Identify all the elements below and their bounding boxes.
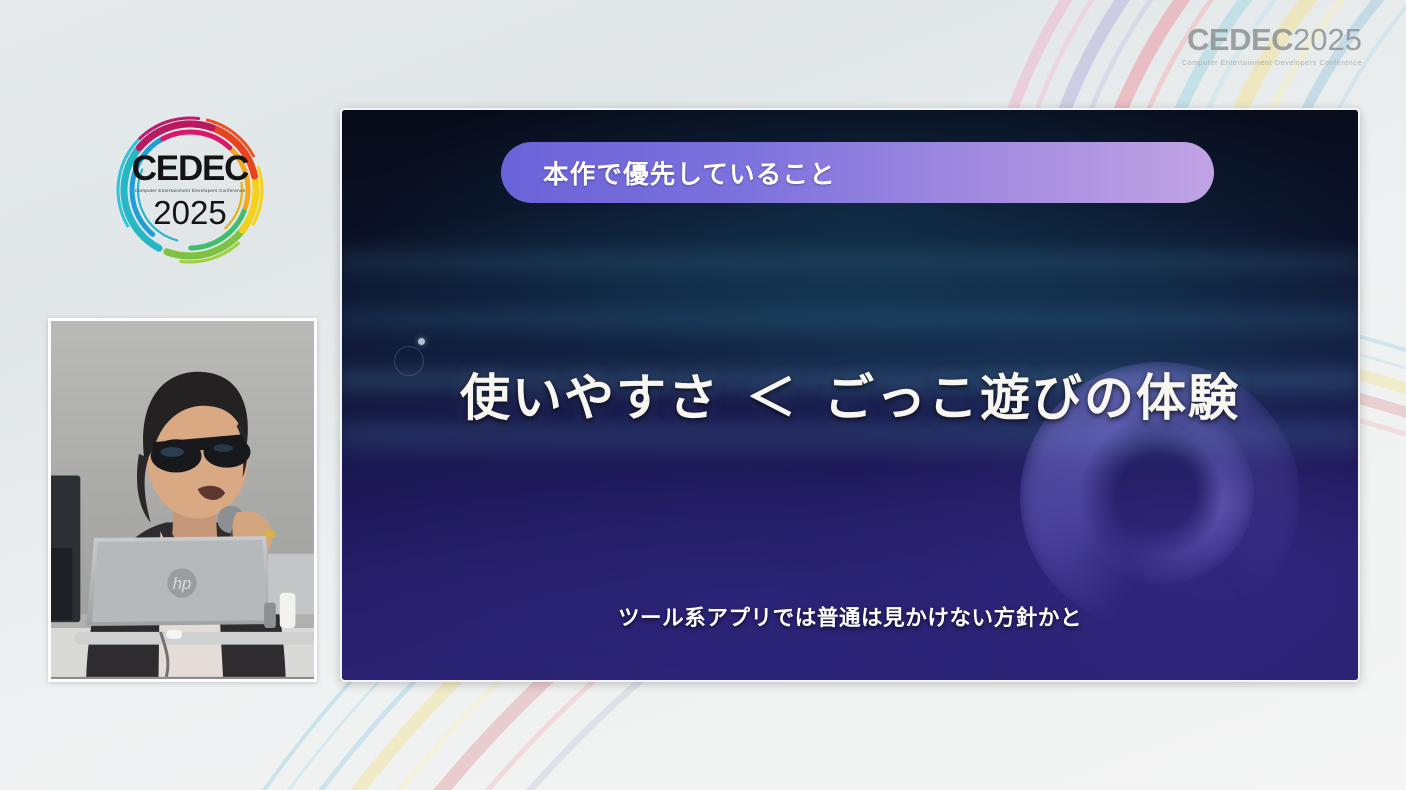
presentation-stage: CEDEC Computer Entertainment Developers … [0,0,1406,790]
headline-left-term: 使いやすさ [460,370,720,426]
headline-operator: ＜ [746,370,798,426]
cedec-header-title: CEDEC2025 [1182,24,1362,55]
speaker-photo: hp [51,321,314,677]
cedec-circular-logo: CEDEC Computer Entertainment Developers … [112,112,268,268]
cedec-header-tagline: Computer Entertainment Developers Confer… [1182,59,1362,66]
slide-headline: 使いやすさ＜ごっこ遊びの体験 [342,358,1358,430]
cedec-logo-year: 2025 [153,196,226,229]
slide-caption: ツール系アプリでは普通は見かけない方針かと [342,601,1358,632]
slide-title-banner: 本作で優先していること [501,142,1214,203]
svg-text:hp: hp [173,574,191,593]
speaker-webcam: hp [48,318,317,682]
cedec-header-name: CEDEC [1187,22,1293,57]
slide-title: 本作で優先していること [543,154,836,191]
presentation-slide: 本作で優先していること 使いやすさ＜ごっこ遊びの体験 ツール系アプリでは普通は見… [340,108,1360,682]
headline-right-term: ごっこ遊びの体験 [824,370,1240,426]
light-orb-icon [418,338,425,345]
cedec-header-year: 2025 [1293,22,1362,57]
cedec-logo-text: CEDEC Computer Entertainment Developers … [112,112,268,268]
cedec-logo-name: CEDEC [132,151,249,186]
cedec-header-wordmark: CEDEC2025 Computer Entertainment Develop… [1182,24,1362,66]
cedec-logo-tagline: Computer Entertainment Developers Confer… [135,189,246,194]
galaxy-swirl-inner [1069,404,1254,584]
